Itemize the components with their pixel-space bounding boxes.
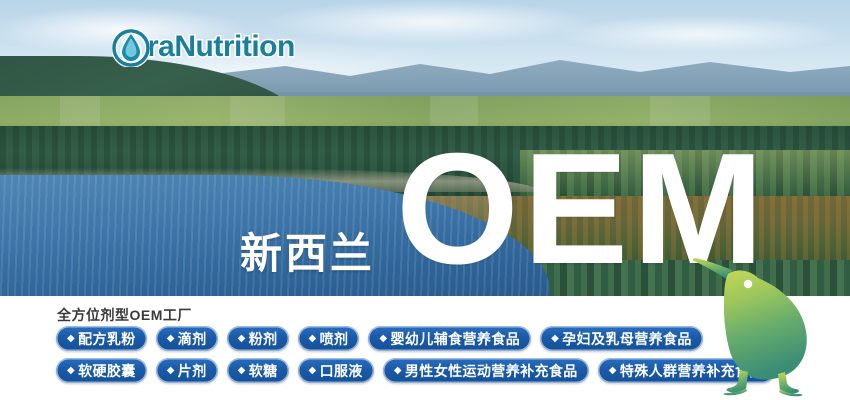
category-tag[interactable]: ◆ 孕妇及乳母营养食品 [540, 326, 703, 351]
category-tag[interactable]: ◆ 口服液 [298, 358, 374, 383]
diamond-bullet-icon: ◆ [167, 366, 175, 376]
category-tag[interactable]: ◆ 粉剂 [227, 326, 289, 351]
category-tag[interactable]: ◆ 男性女性运动营养补充食品 [383, 358, 589, 383]
tag-row-1: ◆ 配方乳粉 ◆ 滴剂 ◆ 粉剂 ◆ 喷剂 ◆ 婴幼儿辅食营养食品 ◆ 孕妇及乳… [56, 326, 703, 351]
category-tag[interactable]: ◆ 片剂 [156, 358, 218, 383]
category-tag-label: 口服液 [320, 361, 363, 381]
category-tag[interactable]: ◆ 软糖 [227, 358, 289, 383]
diamond-bullet-icon: ◆ [394, 366, 402, 376]
diamond-bullet-icon: ◆ [238, 334, 246, 344]
diamond-bullet-icon: ◆ [379, 334, 387, 344]
tag-row-2: ◆ 软硬胶囊 ◆ 片剂 ◆ 软糖 ◆ 口服液 ◆ 男性女性运动营养补充食品 ◆ … [56, 358, 775, 383]
category-tag-label: 配方乳粉 [78, 329, 136, 349]
diamond-bullet-icon: ◆ [67, 366, 75, 376]
hero-newzealand-text: 新西兰 [240, 233, 375, 275]
category-tag-label: 孕妇及乳母营养食品 [562, 329, 692, 349]
diamond-bullet-icon: ◆ [67, 334, 75, 344]
category-tag[interactable]: ◆ 滴剂 [156, 326, 218, 351]
category-tag[interactable]: ◆ 软硬胶囊 [56, 358, 147, 383]
diamond-bullet-icon: ◆ [609, 366, 617, 376]
water-drop-icon [112, 27, 150, 67]
diamond-bullet-icon: ◆ [309, 334, 317, 344]
brand-logo-text: raNutrition [147, 30, 295, 64]
category-tag-label: 软硬胶囊 [78, 361, 136, 381]
kiwi-bird-icon [692, 252, 824, 398]
panel-title: 全方位剂型OEM工厂 [57, 305, 192, 325]
category-tag[interactable]: ◆ 喷剂 [298, 326, 360, 351]
category-tag-label: 片剂 [178, 361, 207, 381]
diamond-bullet-icon: ◆ [309, 366, 317, 376]
diamond-bullet-icon: ◆ [238, 366, 246, 376]
category-tag-label: 粉剂 [249, 329, 278, 349]
oem-promo-banner: OEM 新西兰 raNutrition [0, 0, 850, 400]
category-tag[interactable]: ◆ 配方乳粉 [56, 326, 147, 351]
diamond-bullet-icon: ◆ [551, 334, 559, 344]
category-tag-label: 软糖 [249, 361, 278, 381]
category-tag-label: 婴幼儿辅食营养食品 [391, 329, 521, 349]
category-tag-label: 滴剂 [178, 329, 207, 349]
category-tag-label: 喷剂 [320, 329, 349, 349]
category-tag[interactable]: ◆ 婴幼儿辅食营养食品 [368, 326, 531, 351]
category-tag-label: 男性女性运动营养补充食品 [405, 361, 578, 381]
diamond-bullet-icon: ◆ [167, 334, 175, 344]
brand-logo[interactable]: raNutrition [112, 26, 295, 68]
